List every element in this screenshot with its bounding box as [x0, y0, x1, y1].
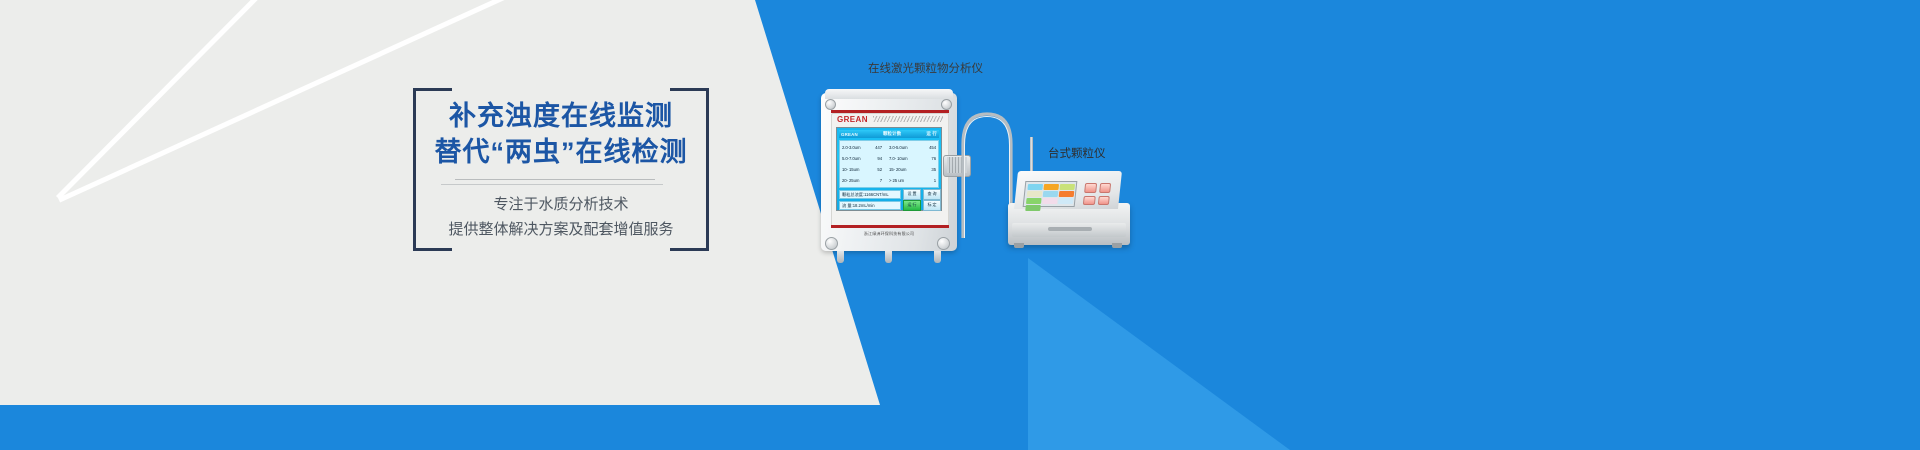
analyzer-red-stripe-top — [831, 110, 949, 113]
lcd-status-row: 颗粒总浓度:1166CNT/mL 设 置 查 询 — [839, 190, 939, 199]
keypad-button[interactable] — [1099, 183, 1111, 193]
screen-tile[interactable] — [1025, 205, 1041, 211]
analyzer-mounting-legs — [837, 251, 941, 263]
lcd-header-left: GREAN — [841, 132, 858, 137]
cell-range-a: 5.0-7.0um — [842, 156, 866, 161]
analyzer-latch-upper-right — [941, 99, 952, 110]
lcd-status-row: 流 量:18.2mL/min 运 行 标 定 — [839, 201, 939, 210]
subtitle-line-2: 提供整体解决方案及配套增值服务 — [413, 217, 709, 242]
headline-line-1: 补充浊度在线监测 — [413, 99, 709, 133]
analyzer-lcd-screen[interactable]: GREAN 颗粒计数 运 行 2.0-3.0um 447 3.0-5.0um 4… — [836, 127, 942, 211]
subtitle-line-1: 专注于水质分析技术 — [413, 192, 709, 217]
keypad-button[interactable] — [1084, 183, 1096, 193]
table-row: 20- 25um 7 > 25 um 1 — [842, 175, 936, 186]
cell-count-a: 52 — [866, 167, 885, 172]
screen-tile[interactable] — [1042, 198, 1058, 204]
cell-range-b: 7.0- 10um — [885, 156, 919, 161]
callout-benchtop-counter: 台式颗粒仪 — [1048, 145, 1106, 161]
promo-banner: 补充浊度在线监测 替代“两虫”在线检测 专注于水质分析技术 提供整体解决方案及配… — [0, 0, 1920, 450]
benchtop-touchscreen[interactable] — [1023, 181, 1078, 207]
analyzer-leg — [934, 251, 941, 263]
analyzer-brand-logo: GREAN — [837, 115, 868, 124]
table-row: 5.0-7.0um 94 7.0- 10um 76 — [842, 153, 936, 164]
screen-tile[interactable] — [1059, 184, 1075, 190]
benchtop-vent-slot — [1048, 227, 1092, 231]
screen-tile[interactable] — [1026, 198, 1042, 204]
lcd-header-right: 运 行 — [926, 131, 937, 137]
cell-count-b: 35 — [919, 167, 936, 172]
analyzer-company-footer: 浙江绿洲环保科技有限公司 — [835, 231, 943, 237]
lcd-header-center: 颗粒计数 — [883, 131, 901, 137]
screen-tile[interactable] — [1027, 184, 1043, 190]
analyzer-panel-hatching — [873, 116, 943, 122]
analyzer-leg — [837, 251, 844, 263]
cell-count-b: 76 — [919, 156, 936, 161]
cell-count-a: 447 — [866, 145, 885, 150]
divider-rules — [441, 179, 681, 185]
screen-tile[interactable] — [1058, 198, 1074, 204]
cell-count-a: 7 — [866, 178, 885, 183]
benchtop-keypad[interactable] — [1083, 183, 1111, 205]
analyzer-port-knob-lower-right — [937, 237, 950, 250]
analyzer-leg — [885, 251, 892, 263]
cell-range-b: 3.0-5.0um — [885, 145, 919, 150]
cell-range-a: 2.0-3.0um — [842, 145, 866, 150]
lcd-status-area: 颗粒总浓度:1166CNT/mL 设 置 查 询 流 量:18.2mL/min … — [839, 190, 939, 210]
online-laser-particle-analyzer: GREAN GREAN 颗粒计数 运 行 2.0-3.0um 447 3.0-5… — [815, 85, 965, 265]
subtitle-group: 专注于水质分析技术 提供整体解决方案及配套增值服务 — [413, 192, 709, 242]
keypad-button[interactable] — [1083, 196, 1095, 206]
cell-range-a: 10- 15um — [842, 167, 866, 172]
lcd-header-bar: GREAN 颗粒计数 运 行 — [839, 130, 939, 138]
cell-range-a: 20- 25um — [842, 178, 866, 183]
analyzer-latch-upper-left — [825, 99, 836, 110]
headline-line-2: 替代“两虫”在线检测 — [413, 135, 709, 169]
lcd-query-button[interactable]: 查 询 — [923, 189, 941, 200]
lcd-run-button[interactable]: 运 行 — [903, 200, 921, 211]
benchtop-foot — [1112, 243, 1122, 248]
divider-rule-bottom — [441, 184, 663, 185]
lcd-particle-table: 2.0-3.0um 447 3.0-5.0um 454 5.0-7.0um 94… — [839, 140, 939, 188]
divider-rule-top — [455, 179, 655, 180]
analyzer-port-knob-lower-left — [825, 237, 838, 250]
lcd-calibrate-button[interactable]: 标 定 — [923, 200, 941, 211]
cell-range-b: 15- 20um — [885, 167, 919, 172]
analyzer-lid — [825, 89, 953, 99]
screen-tile[interactable] — [1026, 191, 1042, 197]
cell-count-a: 94 — [866, 156, 885, 161]
cell-count-b: 454 — [919, 145, 936, 150]
headline-text-block: 补充浊度在线监测 替代“两虫”在线检测 专注于水质分析技术 提供整体解决方案及配… — [413, 88, 709, 251]
lcd-concentration-readout: 颗粒总浓度:1166CNT/mL — [839, 190, 901, 199]
screen-tile[interactable] — [1042, 191, 1058, 197]
benchtop-foot — [1014, 243, 1024, 248]
screen-tile[interactable] — [1058, 191, 1074, 197]
lcd-flowrate-readout: 流 量:18.2mL/min — [839, 201, 901, 210]
screen-tile[interactable] — [1043, 184, 1059, 190]
table-row: 2.0-3.0um 447 3.0-5.0um 454 — [842, 142, 936, 153]
cell-count-b: 1 — [919, 178, 936, 183]
table-row: 10- 15um 52 15- 20um 35 — [842, 164, 936, 175]
lcd-settings-button[interactable]: 设 置 — [903, 189, 921, 200]
keypad-button[interactable] — [1097, 196, 1109, 206]
cell-range-b: > 25 um — [885, 178, 919, 183]
callout-online-analyzer: 在线激光颗粒物分析仪 — [868, 60, 983, 76]
benchtop-particle-counter — [1008, 163, 1136, 255]
headline: 补充浊度在线监测 替代“两虫”在线检测 — [413, 99, 709, 169]
analyzer-red-stripe-bottom — [831, 225, 949, 228]
